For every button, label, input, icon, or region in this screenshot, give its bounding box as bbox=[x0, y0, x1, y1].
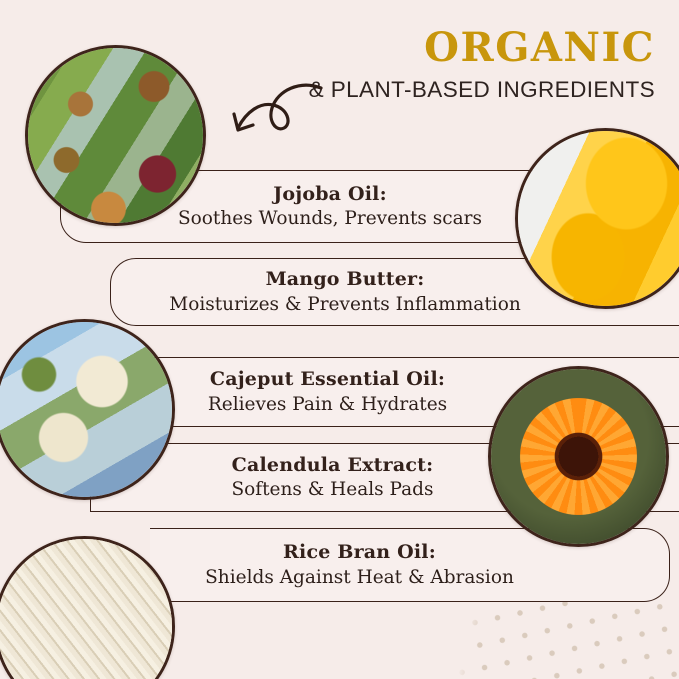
calendula-flower-photo bbox=[488, 366, 669, 547]
rice-grains-photo bbox=[0, 536, 175, 679]
calendula-image-art bbox=[491, 369, 666, 544]
ingredient-title-jojoba: Jojoba Oil: bbox=[178, 183, 482, 205]
ingredient-title-cajeput: Cajeput Essential Oil: bbox=[208, 368, 447, 390]
headline-organic: ORGANIC bbox=[309, 28, 655, 68]
jojoba-fruit-photo bbox=[25, 45, 206, 226]
ingredient-desc-cajeput: Relieves Pain & Hydrates bbox=[208, 394, 447, 416]
ingredient-desc-mango: Moisturizes & Prevents Inflammation bbox=[169, 294, 521, 316]
mango-butter-photo bbox=[515, 128, 679, 309]
subheadline-plant-based: & PLANT-BASED INGREDIENTS bbox=[309, 79, 655, 102]
rice-image-art bbox=[0, 539, 172, 679]
ingredient-desc-calendula: Softens & Heals Pads bbox=[231, 479, 433, 501]
ingredient-title-rice: Rice Bran Oil: bbox=[205, 541, 514, 563]
page-title: ORGANIC & PLANT-BASED INGREDIENTS bbox=[309, 28, 655, 102]
ingredient-title-mango: Mango Butter: bbox=[169, 268, 521, 290]
cajeput-image-art bbox=[0, 322, 172, 497]
infographic-canvas: ORGANIC & PLANT-BASED INGREDIENTS Jojoba… bbox=[0, 0, 679, 679]
ingredient-title-calendula: Calendula Extract: bbox=[231, 454, 433, 476]
cajeput-blossom-photo bbox=[0, 319, 175, 500]
ingredient-desc-rice: Shields Against Heat & Abrasion bbox=[205, 567, 514, 589]
mango-image-art bbox=[518, 131, 679, 306]
ingredient-desc-jojoba: Soothes Wounds, Prevents scars bbox=[178, 208, 482, 230]
jojoba-image-art bbox=[28, 48, 203, 223]
